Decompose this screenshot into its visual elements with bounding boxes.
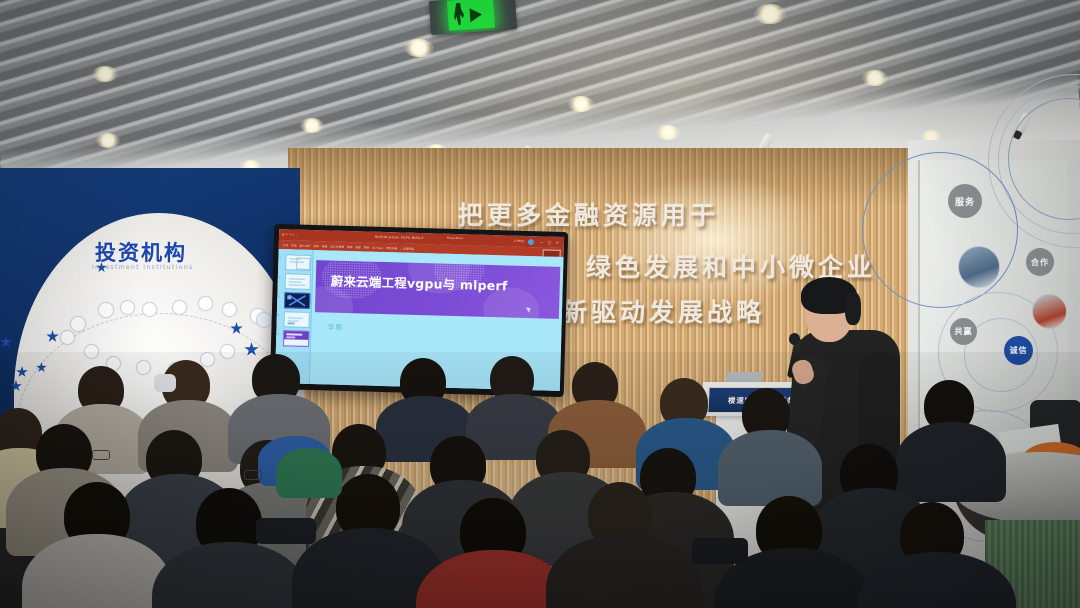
- downlight: [568, 96, 594, 112]
- user-account-label: Li Peng: [514, 239, 524, 243]
- investment-institutions-heading: 投资机构: [95, 237, 265, 267]
- audience-face-mask: [154, 374, 176, 392]
- thumbnail-number: 2: [279, 276, 281, 279]
- slide-thumbnail[interactable]: [283, 330, 309, 347]
- quick-access-toolbar[interactable]: ▤ ↶ ↷ ▷ ⌄: [282, 233, 298, 236]
- downlight: [754, 4, 786, 24]
- partner-logo: [256, 312, 272, 328]
- thumbnail-number: 3: [278, 295, 280, 298]
- minimize-button[interactable]: —: [540, 240, 544, 244]
- partner-logo: [60, 330, 75, 345]
- conference-room-photo: 把更多金融资源用于 绿色发展和中小微企业 新驱动发展战略 投资机构 Invest…: [0, 0, 1080, 608]
- value-circle-winwin: 共赢: [950, 318, 977, 345]
- partner-logo: [98, 302, 114, 318]
- downlight: [404, 39, 434, 57]
- arrow-icon: [470, 7, 483, 22]
- slide-thumbnail[interactable]: [285, 254, 311, 271]
- partner-logo: [172, 300, 187, 315]
- slide-thumbnail-selected[interactable]: [284, 292, 310, 309]
- investment-institutions-subheading: Investment Institutions: [92, 264, 272, 271]
- wall-headline-line1: 把更多金融资源用于: [458, 196, 719, 232]
- slide-thumbnail[interactable]: [283, 311, 309, 328]
- slide-title-banner: 蔚来云端工程vgpu与 mlperf: [315, 260, 560, 319]
- wall-headline-line3: 新驱动发展战略: [562, 293, 765, 329]
- partner-logo: [70, 316, 86, 332]
- exit-sign: [429, 0, 517, 35]
- partner-logo: [198, 296, 213, 311]
- chair-back-rest: [256, 518, 316, 544]
- audience-shoulders: [276, 448, 342, 498]
- audience: [0, 352, 1080, 608]
- user-avatar[interactable]: [528, 239, 534, 245]
- audience-glasses: [92, 450, 110, 460]
- downlight: [862, 70, 888, 86]
- decor-photo-circle: [958, 246, 1000, 288]
- slide-author-text: 李鹏: [327, 322, 343, 332]
- slide-thumbnail[interactable]: [285, 273, 311, 290]
- thumbnail-number: 4: [278, 314, 280, 317]
- downlight: [300, 118, 324, 133]
- partner-logo: [222, 302, 237, 317]
- audience-shoulders: [718, 430, 822, 506]
- thumbnail-number: 5: [277, 333, 279, 336]
- close-button[interactable]: ✕: [556, 241, 560, 245]
- thumbnail-number: 1: [279, 257, 281, 260]
- downlight: [656, 125, 680, 140]
- maximize-button[interactable]: □: [548, 241, 552, 245]
- chair-back-rest: [692, 538, 748, 564]
- audience-shoulders: [896, 422, 1006, 502]
- value-circle-service: 服务: [948, 184, 982, 218]
- decor-ring: [862, 152, 1018, 308]
- partner-logo: [142, 302, 157, 317]
- audience-glasses: [244, 470, 262, 480]
- value-circle-cooperation: 合作: [1026, 248, 1054, 276]
- wood-wall-glare: [600, 175, 830, 305]
- decor-photo-circle: [1032, 294, 1067, 329]
- downlight: [96, 133, 120, 148]
- microphone-head: [789, 333, 800, 345]
- presenter-hair-side: [845, 292, 861, 325]
- downlight: [92, 66, 118, 82]
- partner-logo: [120, 300, 135, 315]
- app-name-label: PowerPoint: [447, 237, 463, 240]
